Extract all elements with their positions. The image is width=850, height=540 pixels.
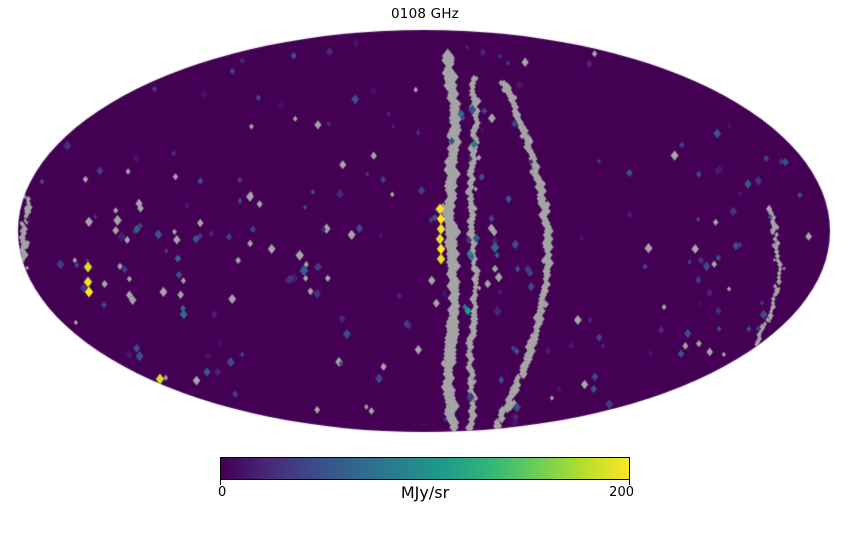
page-title: 0108 GHz: [0, 6, 850, 22]
colorbar-gradient: [220, 457, 630, 480]
colorbar-unit-label: MJy/sr: [220, 483, 630, 502]
figure-root: 0108 GHz 0 200 MJy/sr: [0, 0, 850, 540]
mollweide-sky-map: [0, 24, 850, 442]
sky-map-panel: [0, 24, 850, 442]
colorbar: 0 200 MJy/sr: [220, 457, 630, 503]
